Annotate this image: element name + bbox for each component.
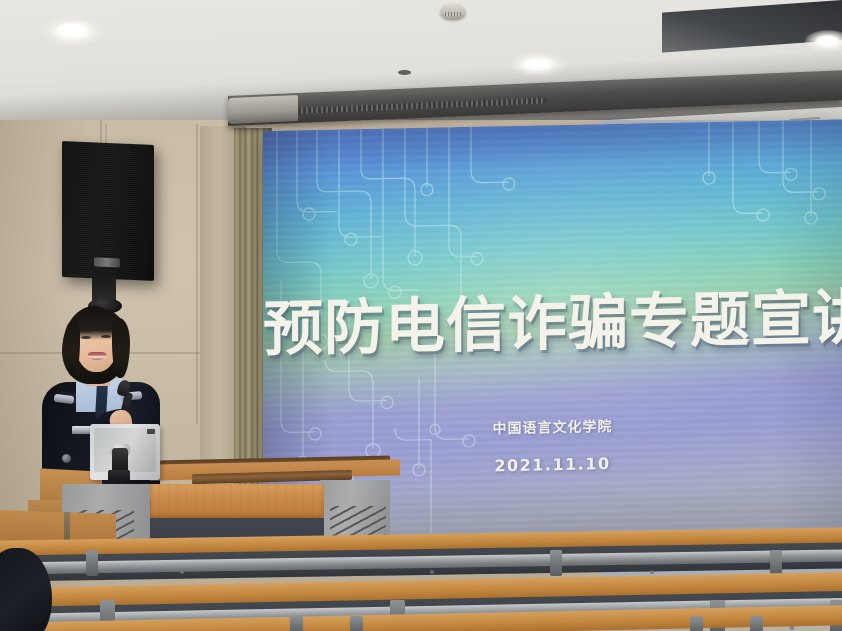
presenter-eye	[81, 336, 91, 339]
bench-screw	[430, 570, 434, 574]
bench-screw	[790, 626, 794, 630]
lecture-hall-scene: 预防电信诈骗专题宣讲会 中国语言文化学院 2021.11.10	[0, 0, 842, 631]
monitor-port	[147, 429, 155, 434]
presenter-uniform-button	[62, 454, 71, 463]
screen-roller-cap	[228, 95, 298, 124]
bench-bracket	[690, 616, 703, 631]
presenter-eye	[101, 335, 111, 338]
wood-grain	[150, 484, 324, 518]
bench-bracket	[350, 616, 363, 631]
speaker-brand-logo	[94, 257, 120, 267]
presenter-hair-left	[64, 320, 80, 376]
bench-bracket	[86, 550, 98, 576]
bench-bracket	[770, 550, 782, 576]
bench-bracket	[290, 616, 303, 631]
downlight-core	[815, 35, 839, 46]
wall-seam	[196, 124, 198, 424]
vent-icon	[330, 506, 386, 536]
bench-screw	[650, 570, 654, 574]
speaker-icon	[62, 141, 154, 281]
bench-bracket	[750, 616, 763, 631]
slide-title: 预防电信诈骗专题宣讲会	[263, 269, 842, 368]
presenter-mouth	[88, 352, 106, 360]
presenter-hair-right	[112, 318, 130, 378]
presenter-brow	[80, 331, 91, 333]
bench-screw	[180, 570, 184, 574]
presenter-brow	[100, 330, 111, 332]
lectern-wood-front	[150, 484, 324, 518]
downlight-core	[56, 23, 86, 37]
smoke-detector-icon	[440, 4, 466, 20]
bench-bracket	[550, 550, 562, 576]
downlight-icon	[42, 16, 104, 46]
